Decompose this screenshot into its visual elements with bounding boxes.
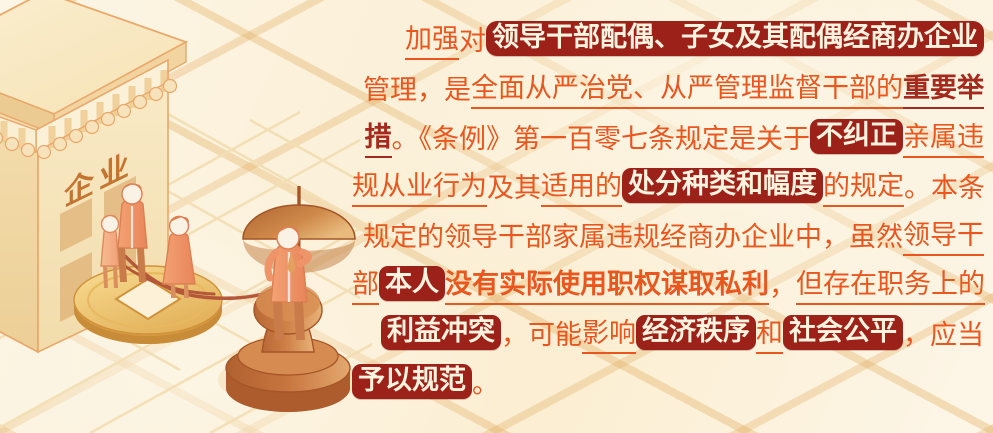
highlight-phrase: 领导干部配偶、子女及其配偶经商办企业 — [486, 21, 984, 56]
text-segment: 管理，是 — [363, 68, 471, 107]
highlight-phrase: 经济秩序 — [636, 315, 756, 350]
text-segment-emphasis: 措 — [365, 115, 392, 158]
text-segment: 影响 — [582, 311, 636, 354]
text-segment: 。 — [472, 362, 499, 401]
text-segment-emphasis: 重要举 — [903, 66, 984, 109]
text-segment-emphasis: 没有实际使用职权谋取私利 — [445, 262, 769, 305]
text-segment: 及其 — [487, 166, 541, 205]
text-segment: ，应当 — [903, 313, 984, 352]
text-segment: ， — [769, 264, 796, 303]
text-line-2: 管理，是全面从严治党、从严管理监督干部的重要举 — [352, 61, 984, 110]
text-line-7: 利益冲突，可能影响经济秩序和社会公平，应当 — [352, 306, 984, 355]
text-line-6: 部本人没有实际使用职权谋取私利，但存在职务上的 — [352, 257, 984, 306]
illustration-isometric-scene: 企业 — [0, 0, 372, 433]
highlight-phrase: 不纠正 — [810, 119, 903, 154]
text-segment: 的规定 — [823, 164, 904, 207]
highlight-phrase: 处分种类和幅度 — [622, 168, 823, 203]
text-segment: 规从业行为 — [352, 164, 487, 207]
text-line-3: 措。《条例》第一百零七条规定是关于不纠正亲属违 — [352, 110, 984, 159]
text-line-5: 规定的领导干部家属违规经商办企业中，虽然领导干 — [352, 208, 984, 257]
text-segment: 。本条 — [904, 166, 985, 205]
highlight-phrase: 本人 — [379, 266, 445, 301]
paragraph-text-block: 加强对领导干部配偶、子女及其配偶经商办企业 管理，是全面从严治党、从严管理监督干… — [352, 12, 984, 404]
highlight-phrase: 社会公平 — [783, 315, 903, 350]
text-segment: 全面从严治党、从严管理监督干部的 — [471, 66, 903, 109]
highlight-phrase: 予以规范 — [352, 364, 472, 399]
text-segment: 加强 — [405, 17, 459, 60]
text-line-8: 予以规范。 — [352, 355, 984, 404]
text-segment: 规定的领导干部家属违规经商办企业中，虽然 — [363, 215, 903, 254]
text-segment: 和 — [756, 311, 783, 354]
infographic-card: 企业 — [0, 0, 993, 433]
text-segment: 。《条例》第一百零七条规定是关于 — [392, 117, 811, 156]
text-segment: 适用的 — [541, 164, 622, 207]
text-line-4: 规从业行为及其适用的处分种类和幅度的规定。本条 — [352, 159, 984, 208]
text-segment: 亲属违 — [903, 115, 984, 158]
text-segment: 对 — [459, 19, 486, 58]
text-segment: ，可能 — [501, 313, 582, 352]
text-segment: 领导干 — [903, 213, 984, 256]
text-segment: 但存在职务上的 — [796, 262, 985, 305]
highlight-phrase: 利益冲突 — [381, 315, 501, 350]
text-line-1: 加强对领导干部配偶、子女及其配偶经商办企业 — [352, 12, 984, 61]
text-segment: 部 — [352, 262, 379, 305]
